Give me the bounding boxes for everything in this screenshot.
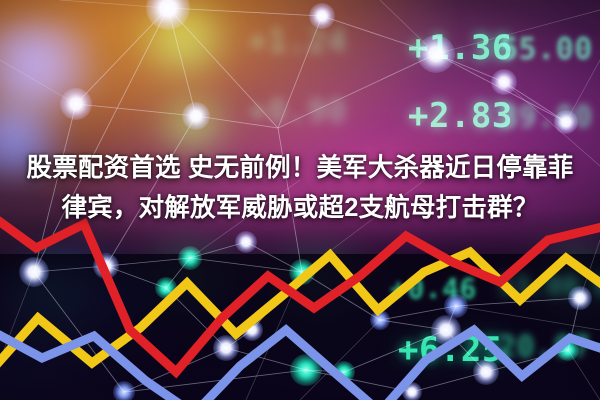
headline-line-1: 股票配资首选 史无前例！美军大杀器近日停靠菲: [14, 148, 586, 188]
headline-text: 股票配资首选 史无前例！美军大杀器近日停靠菲 律宾，对解放军威胁或超2支航母打击…: [0, 148, 600, 228]
headline-line-2: 律宾，对解放军威胁或超2支航母打击群？: [14, 188, 586, 228]
banner-image: +1.36+2.83+6.25+0.4655.00 U39.00 U20.07 …: [0, 0, 600, 400]
